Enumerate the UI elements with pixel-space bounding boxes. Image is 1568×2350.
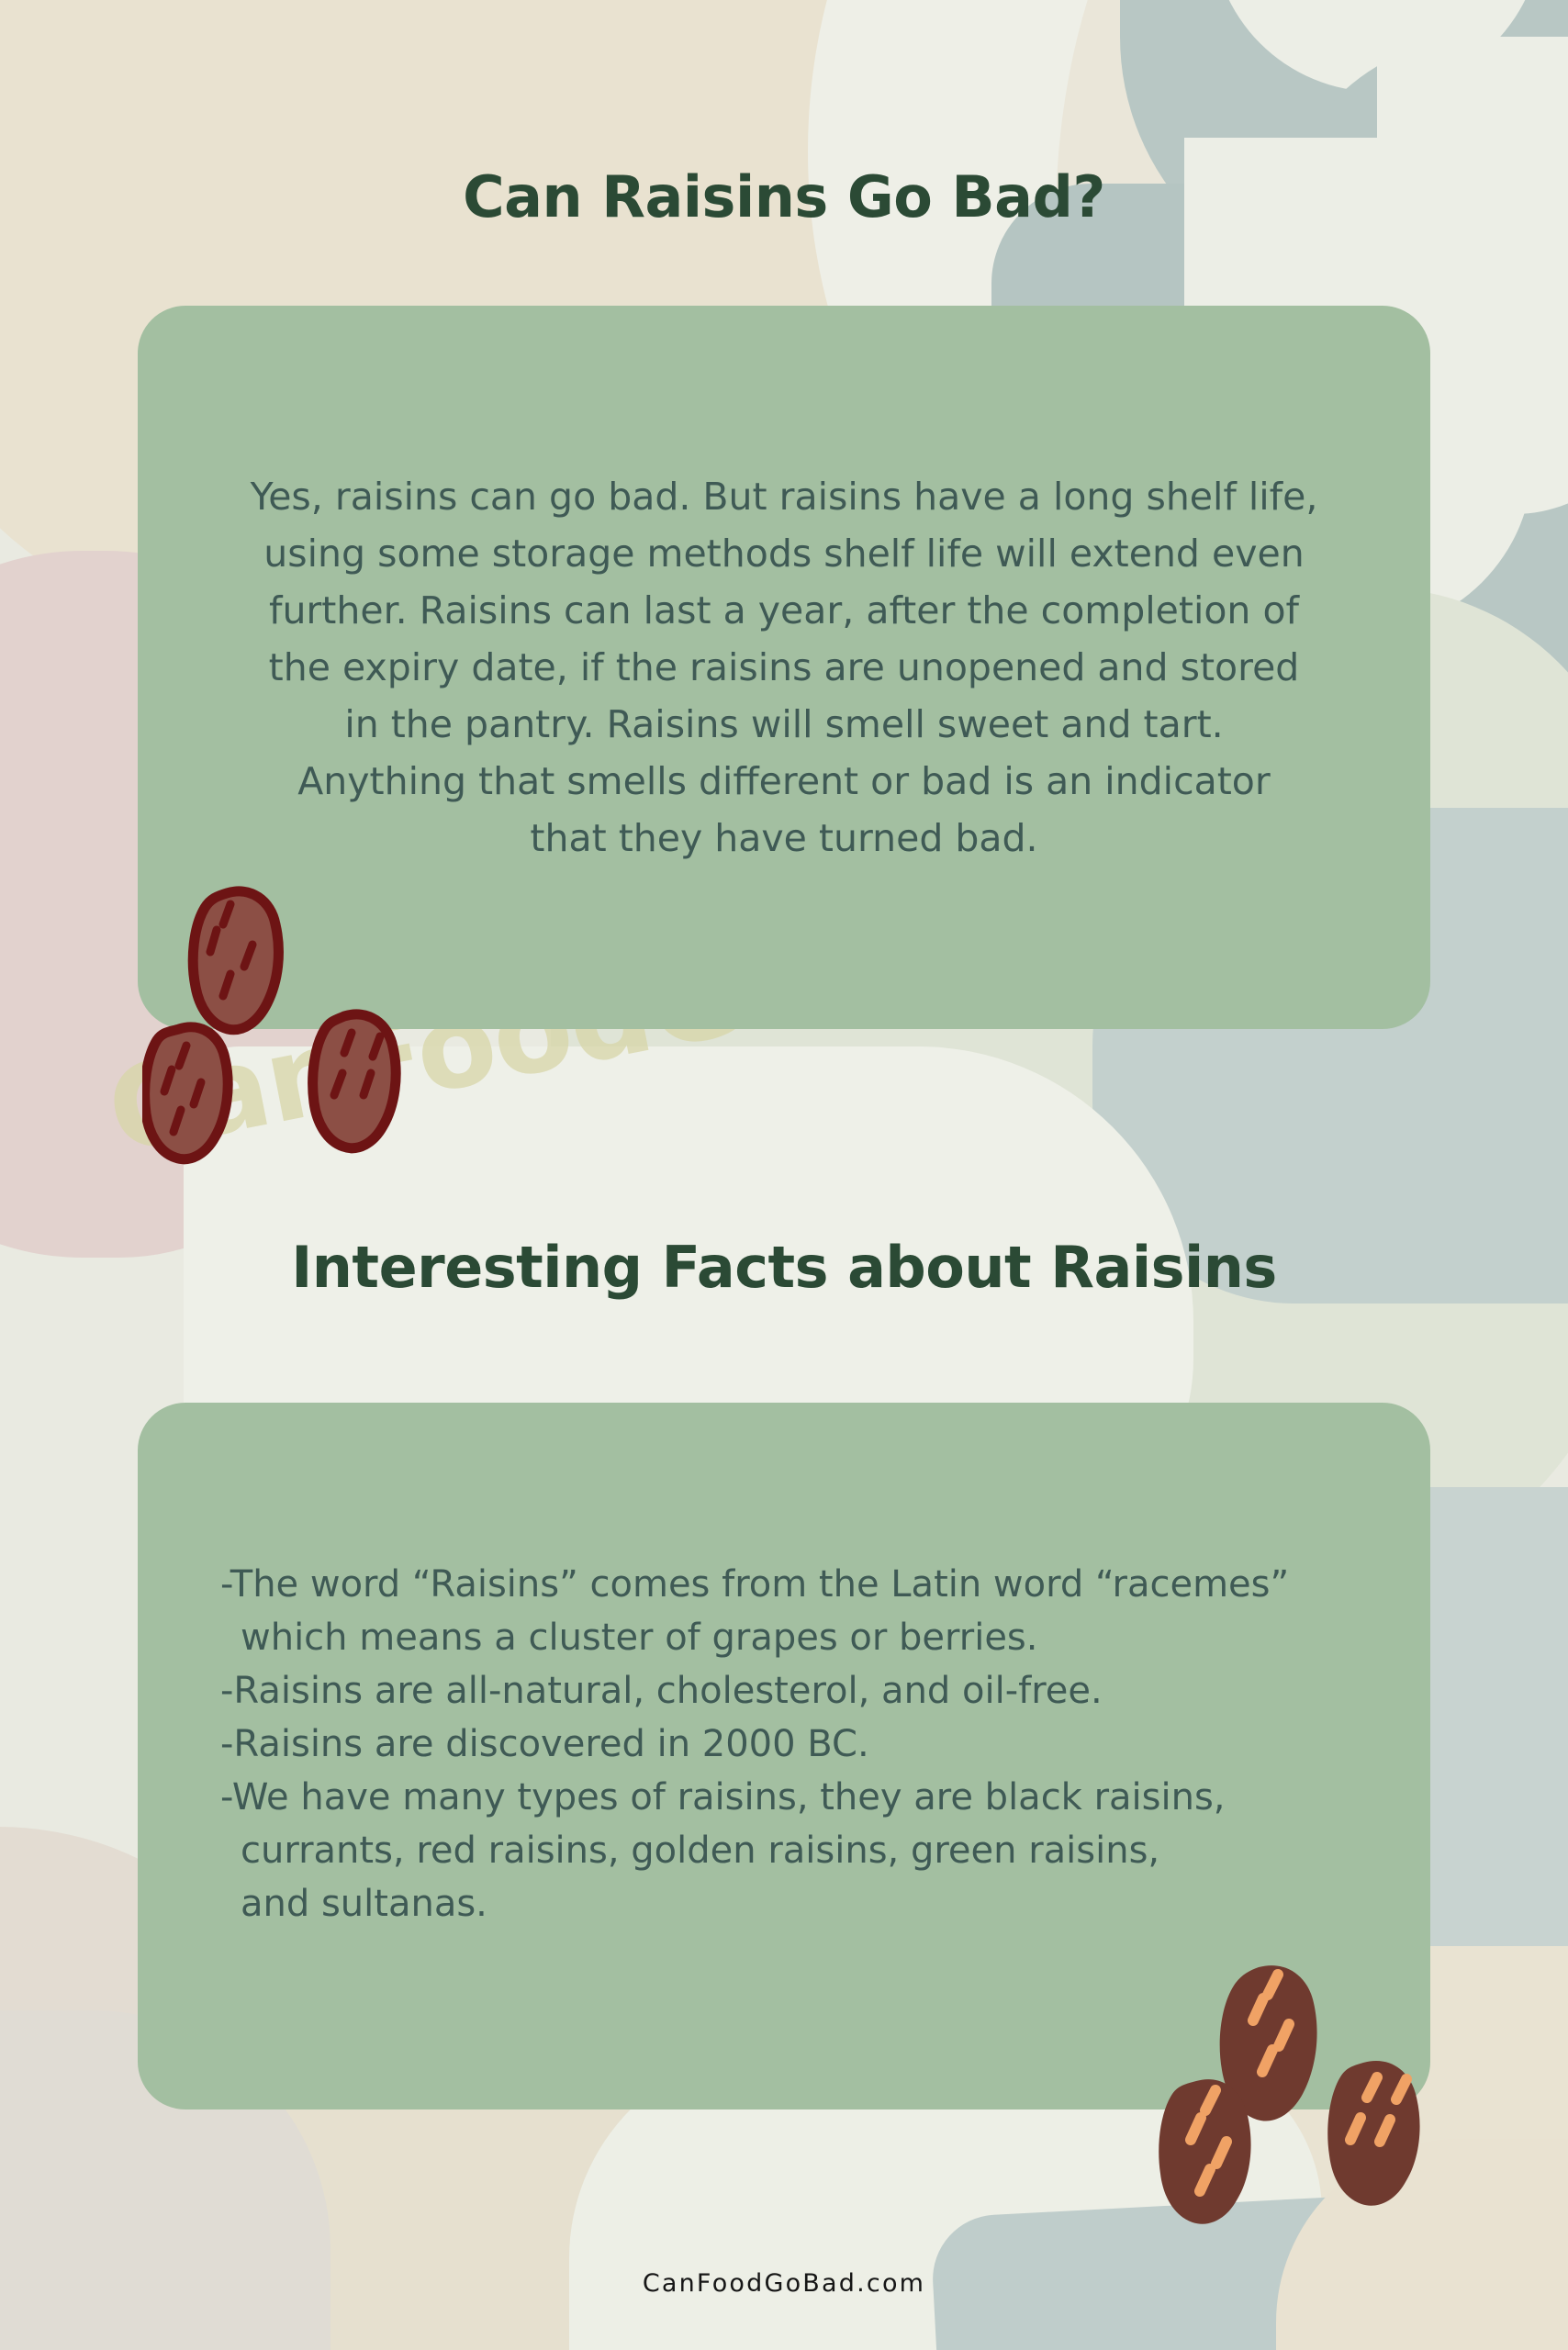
section-title: Interesting Facts about Raisins bbox=[0, 1234, 1568, 1301]
infographic-poster: CanFoodGoBad.com Can Raisins Go Bad? Yes… bbox=[0, 0, 1568, 2350]
answer-line: the expiry date, if the raisins are unop… bbox=[193, 639, 1375, 696]
raisin-icon bbox=[193, 891, 278, 1030]
answer-line: Anything that smells different or bad is… bbox=[193, 753, 1375, 810]
answer-line: in the pantry. Raisins will smell sweet … bbox=[193, 696, 1375, 753]
page-title: Can Raisins Go Bad? bbox=[0, 163, 1568, 230]
facts-list: -The word “Raisins” comes from the Latin… bbox=[220, 1558, 1414, 1930]
footer-brand: CanFoodGoBad.com bbox=[0, 2269, 1568, 2298]
fact-line: -We have many types of raisins, they are… bbox=[220, 1771, 1414, 1824]
raisin-icon bbox=[1327, 2061, 1419, 2206]
raisin-cluster-top-left bbox=[142, 886, 445, 1170]
fact-line: and sultanas. bbox=[220, 1877, 1414, 1930]
raisin-icon bbox=[1159, 2079, 1250, 2224]
fact-line: -The word “Raisins” comes from the Latin… bbox=[220, 1558, 1414, 1611]
fact-line: which means a cluster of grapes or berri… bbox=[220, 1611, 1414, 1664]
answer-paragraph: Yes, raisins can go bad. But raisins hav… bbox=[138, 468, 1430, 867]
raisin-icon bbox=[145, 1027, 229, 1159]
poster-content: Can Raisins Go Bad? Yes, raisins can go … bbox=[0, 0, 1568, 2350]
answer-line: that they have turned bad. bbox=[193, 810, 1375, 867]
fact-line: -Raisins are all-natural, cholesterol, a… bbox=[220, 1664, 1414, 1718]
raisin-icon bbox=[313, 1014, 397, 1148]
answer-line: Yes, raisins can go bad. But raisins hav… bbox=[193, 468, 1375, 525]
fact-line: -Raisins are discovered in 2000 BC. bbox=[220, 1718, 1414, 1771]
raisin-cluster-bottom-right bbox=[1152, 1951, 1464, 2226]
answer-line: using some storage methods shelf life wi… bbox=[193, 525, 1375, 582]
fact-line: currants, red raisins, golden raisins, g… bbox=[220, 1824, 1414, 1877]
answer-line: further. Raisins can last a year, after … bbox=[193, 582, 1375, 639]
